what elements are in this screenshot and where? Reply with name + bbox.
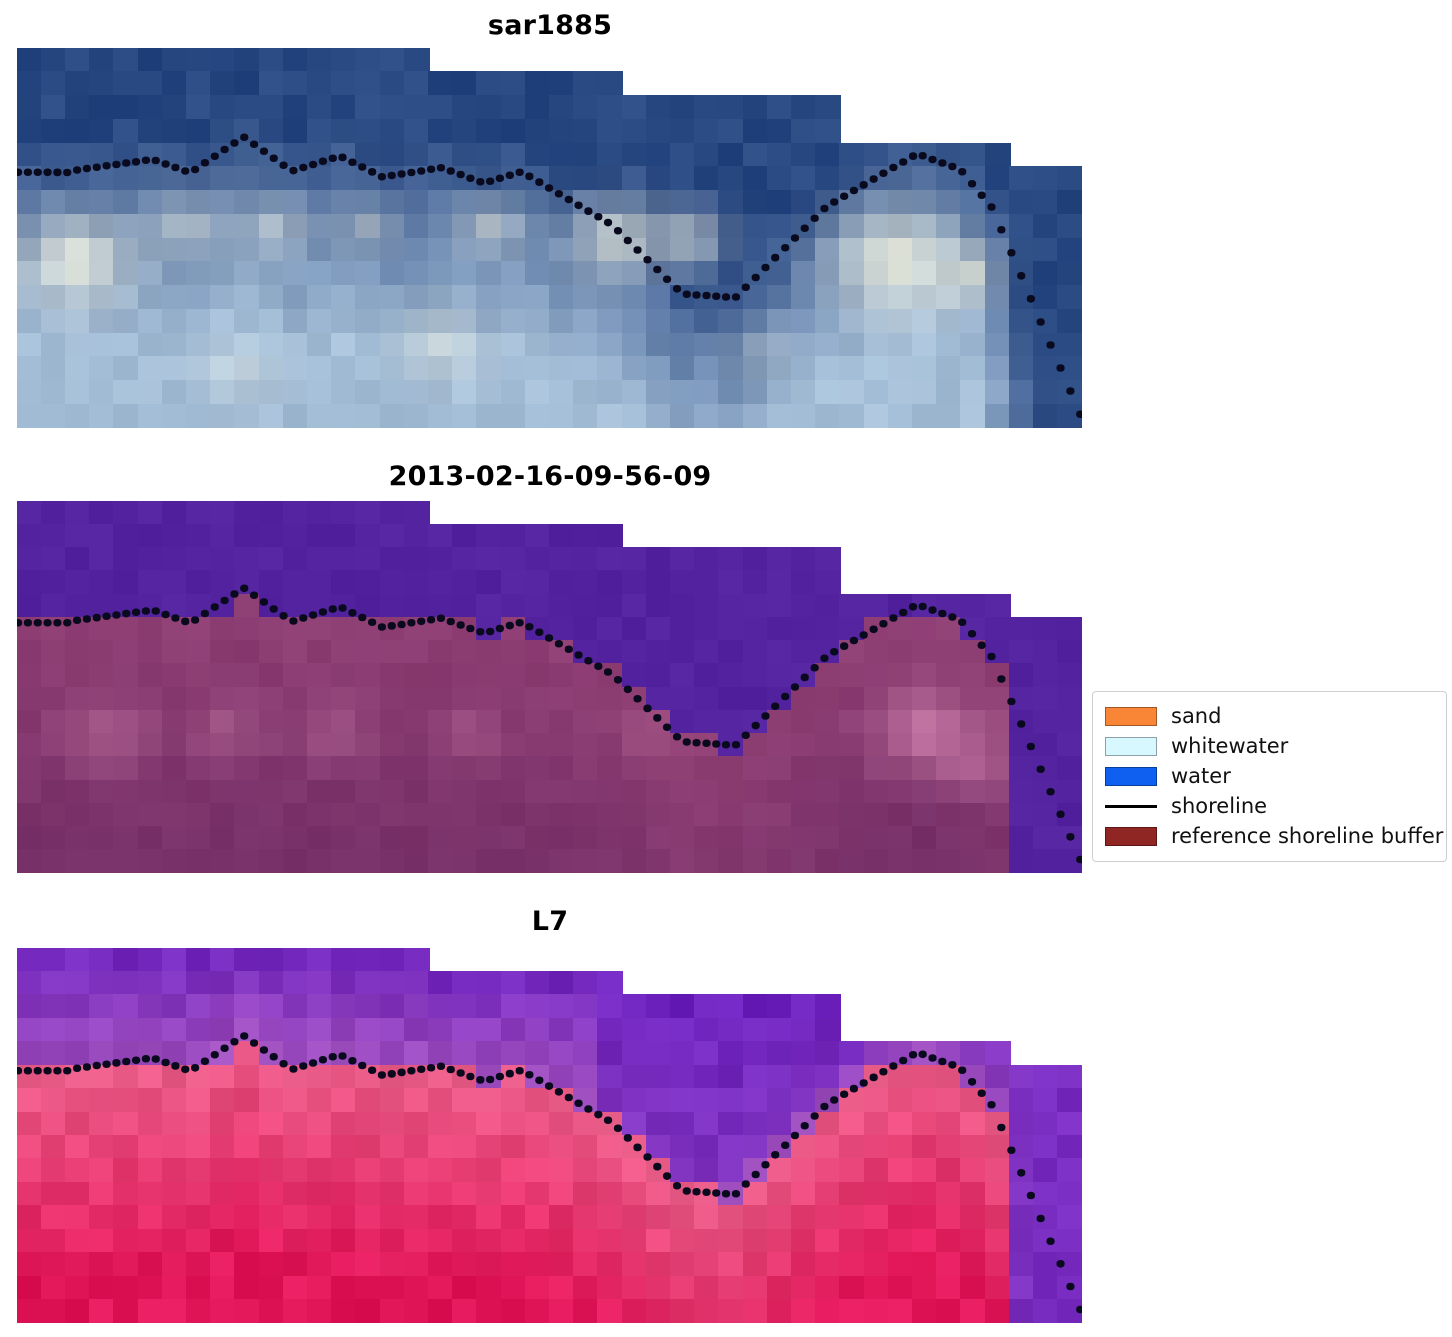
- classification-raster-canvas: [17, 501, 1082, 873]
- legend-item-water: water: [1105, 761, 1434, 791]
- legend-item-reference-buffer: reference shoreline buffer: [1105, 821, 1434, 851]
- panel-title-l7: L7: [0, 906, 1100, 937]
- water-color-swatch: [1105, 767, 1157, 786]
- l7-image-panel: [17, 948, 1082, 1323]
- sar-raster-canvas: [17, 48, 1082, 428]
- whitewater-color-swatch: [1105, 737, 1157, 756]
- legend-label-shoreline: shoreline: [1171, 796, 1267, 817]
- sar-image-panel: [17, 48, 1082, 428]
- shoreline-line-icon: [1105, 797, 1157, 816]
- l7-raster-canvas: [17, 948, 1082, 1323]
- classification-image-panel: [17, 501, 1082, 873]
- legend-label-sand: sand: [1171, 706, 1221, 727]
- legend-label-whitewater: whitewater: [1171, 736, 1288, 757]
- legend-label-reference-buffer: reference shoreline buffer: [1171, 826, 1443, 847]
- legend-item-sand: sand: [1105, 701, 1434, 731]
- legend-label-water: water: [1171, 766, 1231, 787]
- panel-title-datetime: 2013-02-16-09-56-09: [0, 461, 1100, 492]
- figure-root: sar1885 2013-02-16-09-56-09 L7 sand whit…: [0, 0, 1452, 1337]
- legend-item-whitewater: whitewater: [1105, 731, 1434, 761]
- legend-item-shoreline: shoreline: [1105, 791, 1434, 821]
- legend-box: sand whitewater water shoreline referenc…: [1092, 691, 1447, 862]
- sand-color-swatch: [1105, 707, 1157, 726]
- panel-title-sar: sar1885: [0, 10, 1100, 41]
- reference-buffer-color-swatch: [1105, 827, 1157, 846]
